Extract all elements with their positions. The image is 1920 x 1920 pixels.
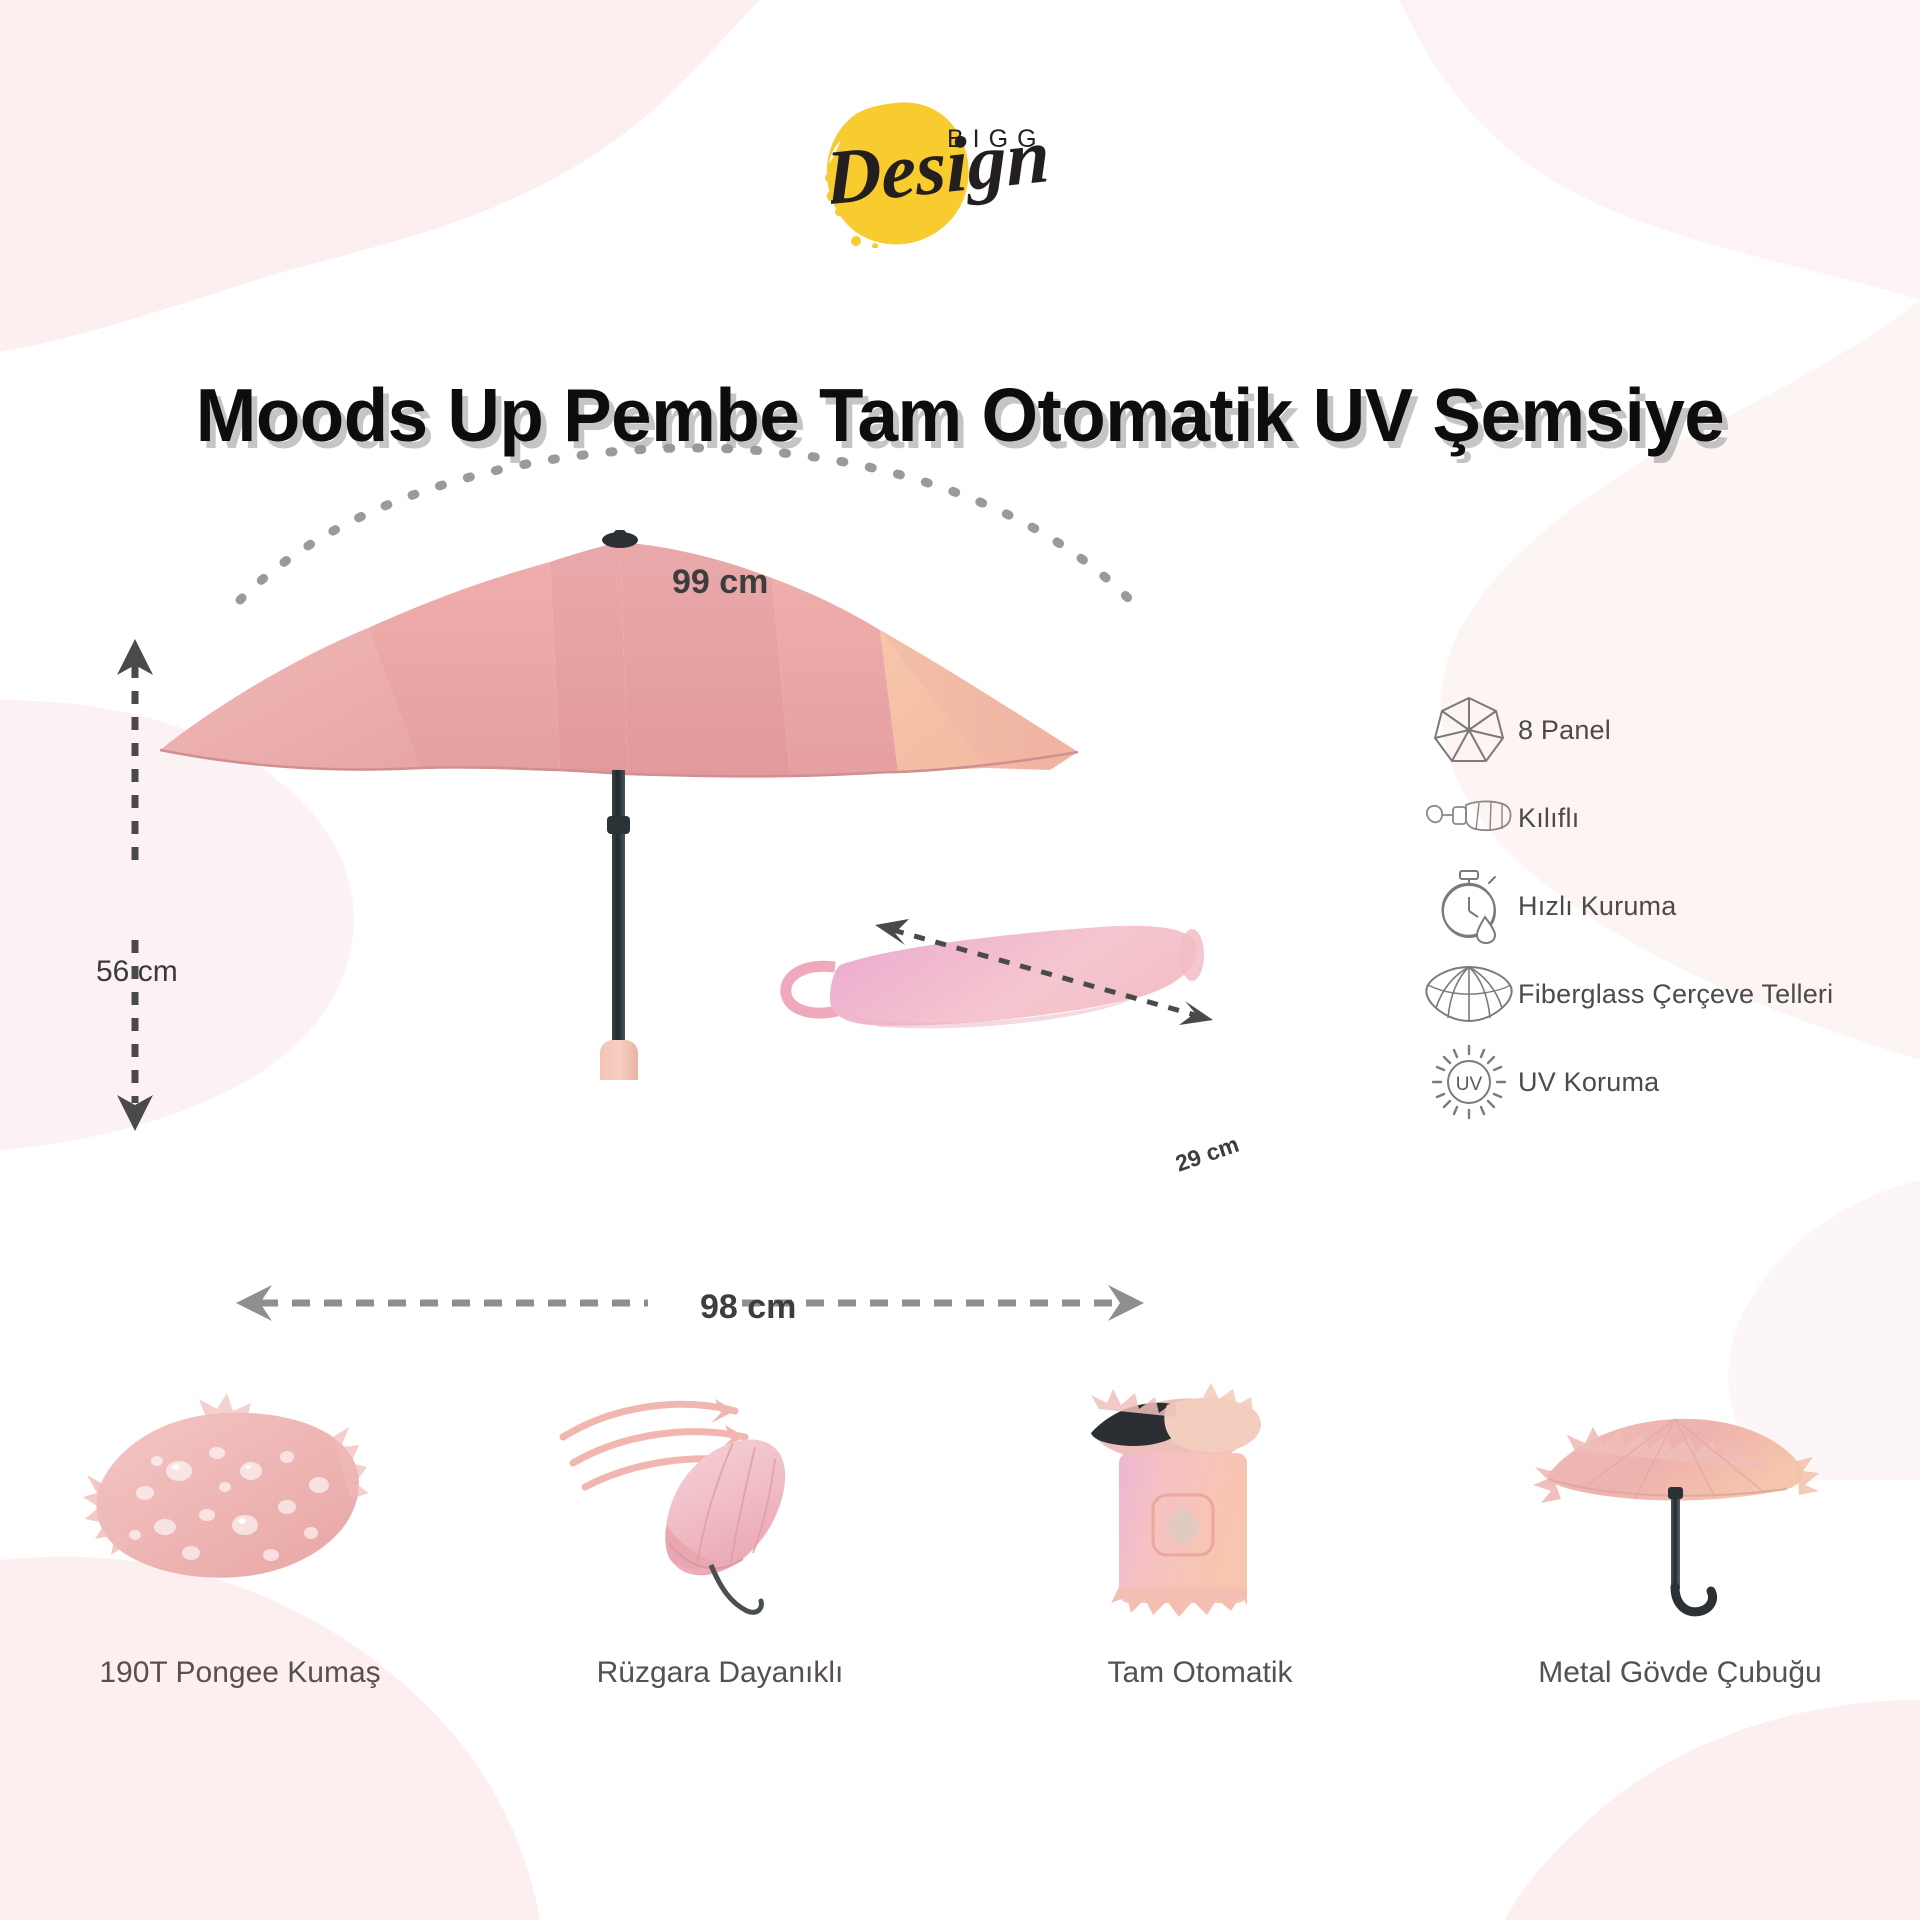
metal-shaft-umbrella-image <box>1515 1375 1845 1630</box>
arrowhead-left <box>875 919 909 945</box>
feature-label: UV Koruma <box>1518 1067 1659 1098</box>
canopy-panel-3 <box>550 542 628 774</box>
umbrella-handle <box>600 1040 638 1080</box>
feature-item-fiberglass: Fiberglass Çerçeve Telleri <box>1420 952 1890 1036</box>
umbrella-tip-stem <box>614 530 626 544</box>
gallery-label: 190T Pongee Kumaş <box>99 1656 380 1690</box>
arrowhead-right <box>1179 1001 1213 1025</box>
gallery-item-wind: Rüzgara Dayanıklı <box>480 1375 960 1775</box>
feature-list: 8 Panel Kılıflı <box>1420 688 1890 1128</box>
umbrella-canopy-frame-icon <box>1420 956 1518 1032</box>
umbrella-in-wind-image <box>555 1375 885 1630</box>
dimension-label-canopy-arc: 99 cm <box>672 563 768 602</box>
logo-design-script: Design <box>831 136 1101 232</box>
uv-icon-label: UV <box>1456 1074 1483 1095</box>
water-droplets-on-fabric-image <box>75 1375 405 1630</box>
feature-gallery: 190T Pongee Kumaş <box>0 1375 1920 1775</box>
feature-label: Hızlı Kuruma <box>1518 891 1676 922</box>
feature-item-kilifli: Kılıflı <box>1420 776 1890 860</box>
sun-uv-icon: UV <box>1420 1044 1518 1120</box>
dimension-arrow-98cm <box>230 1275 1150 1331</box>
brand-logo: BIGG Design <box>0 92 1920 252</box>
gallery-label: Tam Otomatik <box>1107 1656 1292 1690</box>
feature-label: 8 Panel <box>1518 715 1611 746</box>
folded-strap <box>786 966 837 1013</box>
feature-label: Fiberglass Çerçeve Telleri <box>1518 979 1833 1010</box>
case-pouch-icon <box>1420 780 1518 856</box>
dimension-arrow-56cm <box>100 635 170 1135</box>
feature-item-uv-koruma: UV UV Koruma <box>1420 1040 1890 1124</box>
gallery-label: Rüzgara Dayanıklı <box>597 1656 844 1690</box>
dimension-label-height: 56 cm <box>96 955 178 989</box>
dimension-arrow-29cm <box>855 905 1255 1045</box>
feature-item-8-panel: 8 Panel <box>1420 688 1890 772</box>
feature-item-hizli-kuruma: Hızlı Kuruma <box>1420 864 1890 948</box>
auto-open-button-handle-image <box>1035 1375 1365 1630</box>
dimension-label-folded-length: 29 cm <box>1172 1131 1242 1178</box>
gallery-item-fabric: 190T Pongee Kumaş <box>0 1375 480 1775</box>
canopy-panel-5 <box>772 578 898 776</box>
gallery-item-metal-shaft: Metal Gövde Çubuğu <box>1440 1375 1920 1775</box>
umbrella-top-panel-icon <box>1420 692 1518 768</box>
gallery-label: Metal Gövde Çubuğu <box>1538 1656 1822 1690</box>
feature-label: Kılıflı <box>1518 803 1579 834</box>
dimension-label-width: 98 cm <box>700 1288 796 1327</box>
umbrella-shaft <box>612 770 625 1055</box>
page-title: Moods Up Pembe Tam Otomatik UV Şemsiye <box>29 372 1891 458</box>
svg-text:Design: Design <box>831 136 1051 222</box>
umbrella-runner <box>607 816 630 834</box>
arrowhead-right <box>1108 1285 1144 1321</box>
stopwatch-droplet-icon <box>1420 868 1518 944</box>
gallery-item-auto: Tam Otomatik <box>960 1375 1440 1775</box>
